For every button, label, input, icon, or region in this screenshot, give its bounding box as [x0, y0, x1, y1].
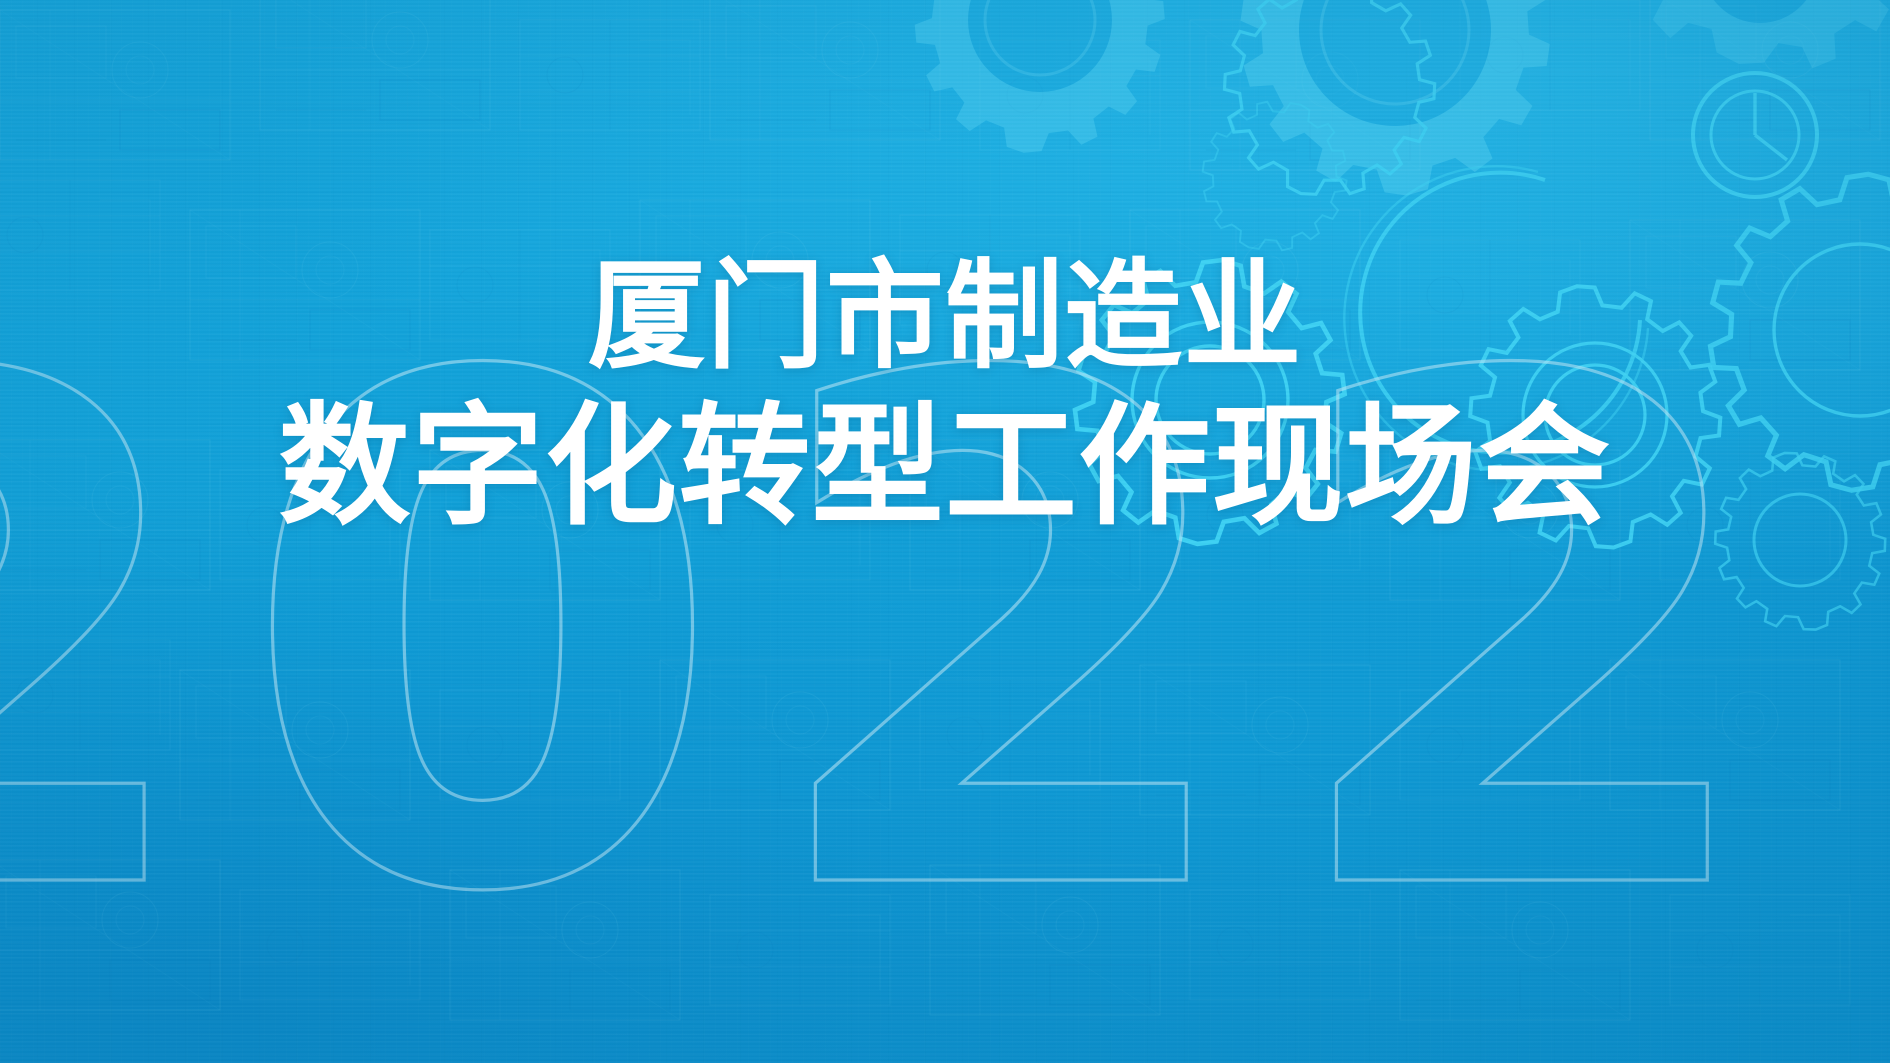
banner-canvas: 2022 厦门市制造业 数字化转型工作现场会: [0, 0, 1890, 1063]
blueprint-grid: [0, 0, 1890, 1063]
